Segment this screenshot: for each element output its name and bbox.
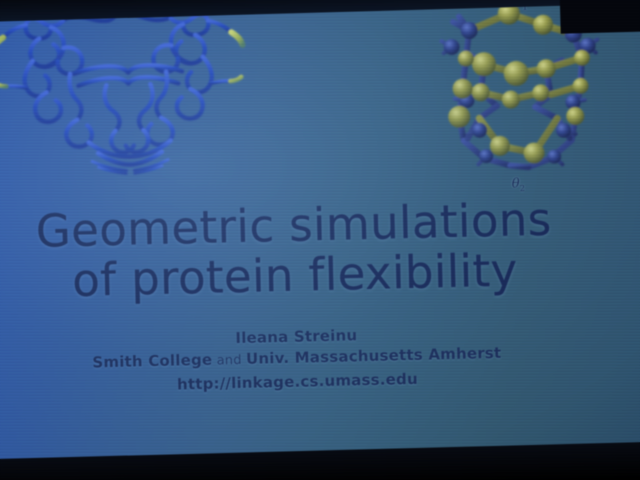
protein-terminus-right-upper — [231, 32, 242, 45]
slide-title: Geometric simulations of protein flexibi… — [0, 191, 615, 310]
protein-terminus-left-upper — [0, 38, 4, 51]
screen-edge-top-right — [559, 0, 640, 34]
video-frame: θ1 θ2 Geometric simulations of protein f… — [0, 0, 640, 480]
affiliation-institution-2: Univ. Massachusetts Amherst — [246, 344, 502, 368]
affiliation-institution-1: Smith College — [92, 351, 212, 372]
torsion-angle-label-theta-2: θ2 — [512, 176, 525, 193]
affiliation-conjunction: and — [212, 353, 246, 369]
slide-credits: Ileana Streinu Smith College and Univ. M… — [0, 319, 618, 400]
projected-slide: θ1 θ2 Geometric simulations of protein f… — [0, 0, 640, 480]
protein-backbone-ribbon-diagram — [0, 0, 281, 184]
protein-terminus-right-lower — [230, 77, 241, 81]
protein-terminus-left-lower — [0, 82, 6, 86]
